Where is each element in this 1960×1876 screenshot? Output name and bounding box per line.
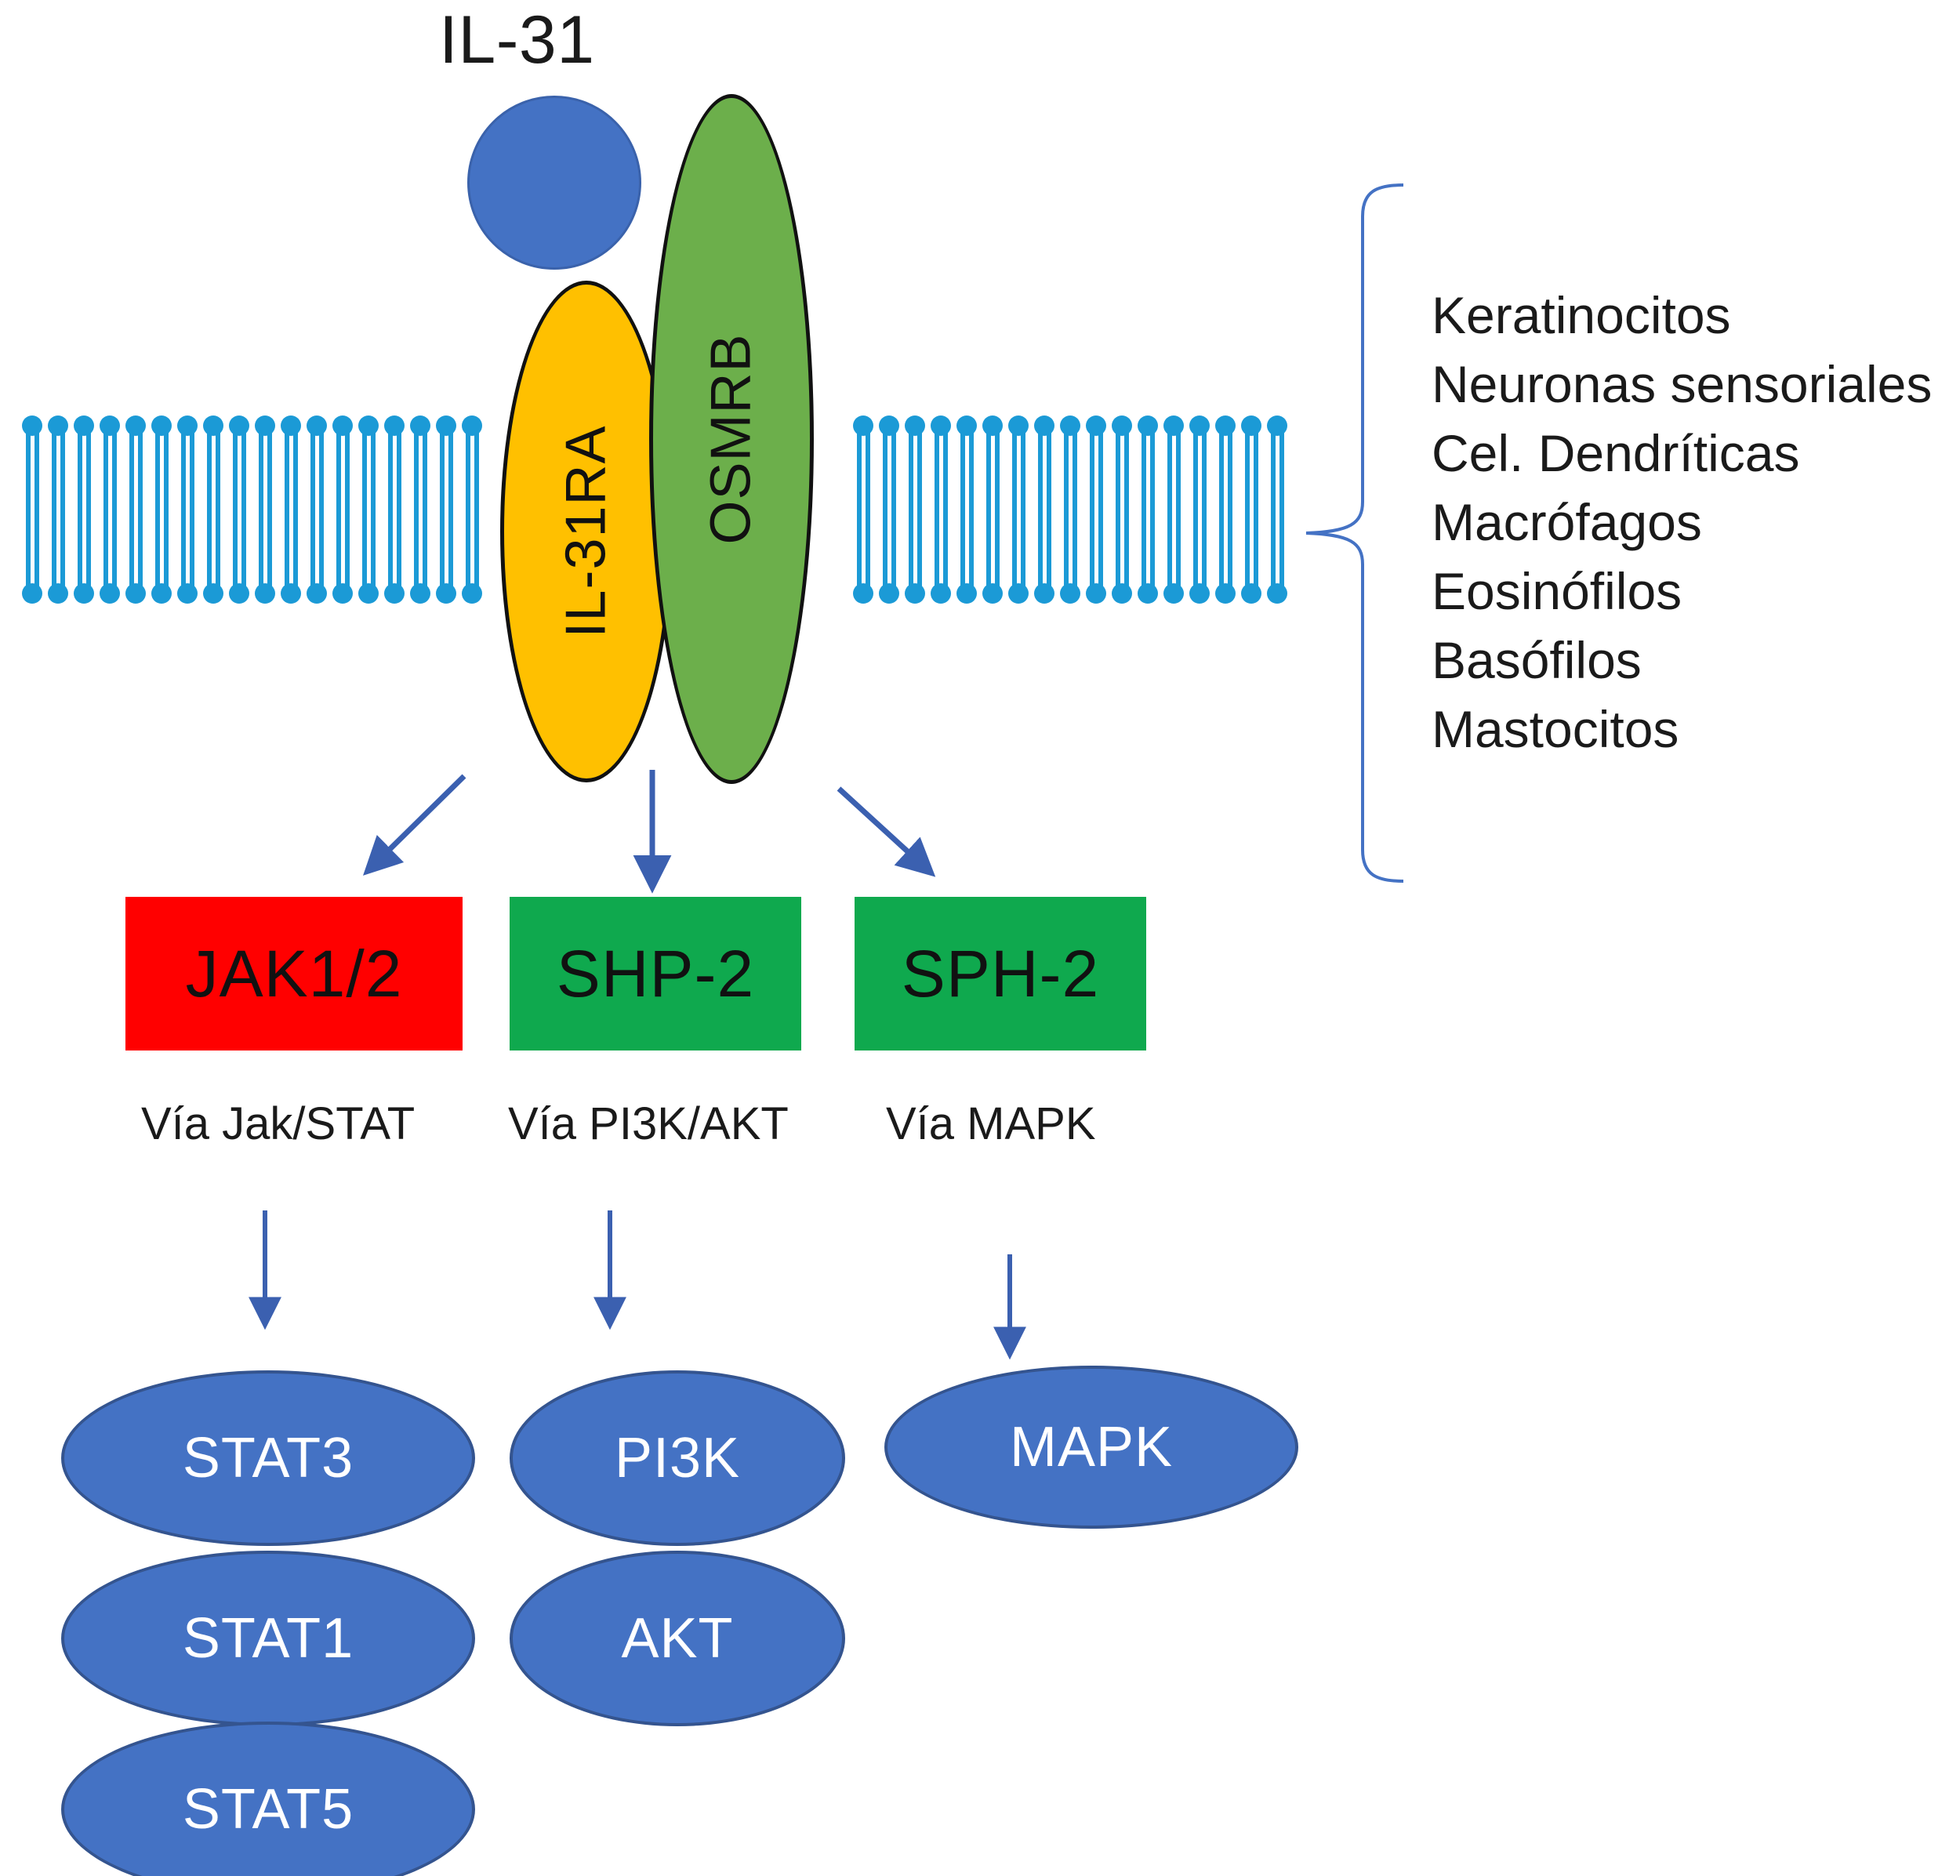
effector-stat1-label: STAT1	[183, 1606, 354, 1671]
list-item: Neuronas sensoriales	[1432, 350, 1932, 419]
cell-types-bracket-icon	[1301, 180, 1411, 886]
effector-mapk: MAPK	[884, 1366, 1298, 1529]
effector-akt-label: AKT	[621, 1606, 733, 1671]
list-item: Macrófagos	[1432, 488, 1932, 557]
list-item: Basófilos	[1432, 626, 1932, 695]
effector-mapk-label: MAPK	[1010, 1415, 1173, 1479]
effector-pi3k: PI3K	[510, 1370, 845, 1546]
kinase-box-jak-label: JAK1/2	[186, 936, 403, 1012]
receptor-subunit-il31ra-label: IL-31RA	[554, 425, 619, 637]
receptor-subunit-il31ra: IL-31RA	[500, 281, 673, 782]
list-item: Mastocitos	[1432, 695, 1932, 764]
effector-stat3-label: STAT3	[183, 1426, 354, 1490]
arrow-to-sph	[839, 789, 930, 872]
list-item: Cel. Dendríticas	[1432, 419, 1932, 488]
ligand-circle-icon	[467, 96, 641, 270]
effector-akt: AKT	[510, 1551, 845, 1726]
list-item: Keratinocitos	[1432, 281, 1932, 350]
pathway-label-mapk: Vía MAPK	[886, 1098, 1096, 1150]
effector-stat3: STAT3	[61, 1370, 475, 1546]
effector-stat5: STAT5	[61, 1722, 475, 1876]
effector-stat5-label: STAT5	[183, 1777, 354, 1842]
pathway-label-jak-stat: Vía Jak/STAT	[141, 1098, 415, 1150]
arrow-to-jak	[368, 776, 464, 870]
lipid-bilayer-right	[853, 415, 1306, 604]
kinase-box-shp-label: SHP-2	[557, 936, 754, 1012]
pathway-to-effector-arrows	[141, 1192, 1176, 1388]
kinase-box-sph: SPH-2	[855, 897, 1146, 1050]
kinase-box-sph-label: SPH-2	[902, 936, 1099, 1012]
receptor-to-kinase-arrows	[298, 753, 1066, 909]
effector-pi3k-label: PI3K	[615, 1426, 740, 1490]
lipid-bilayer-left	[22, 415, 492, 604]
kinase-box-jak: JAK1/2	[125, 897, 463, 1050]
pathway-label-pi3k-akt: Vía PI3K/AKT	[508, 1098, 789, 1150]
kinase-box-shp: SHP-2	[510, 897, 801, 1050]
effector-stat1: STAT1	[61, 1551, 475, 1726]
list-item: Eosinófilos	[1432, 557, 1932, 626]
receptor-subunit-osmrb: OSMRB	[649, 94, 814, 784]
ligand-title: IL-31	[439, 2, 595, 79]
receptor-subunit-osmrb-label: OSMRB	[699, 333, 764, 544]
cell-types-list: Keratinocitos Neuronas sensoriales Cel. …	[1432, 281, 1932, 764]
il31-signaling-diagram: IL-31	[0, 0, 1960, 1876]
